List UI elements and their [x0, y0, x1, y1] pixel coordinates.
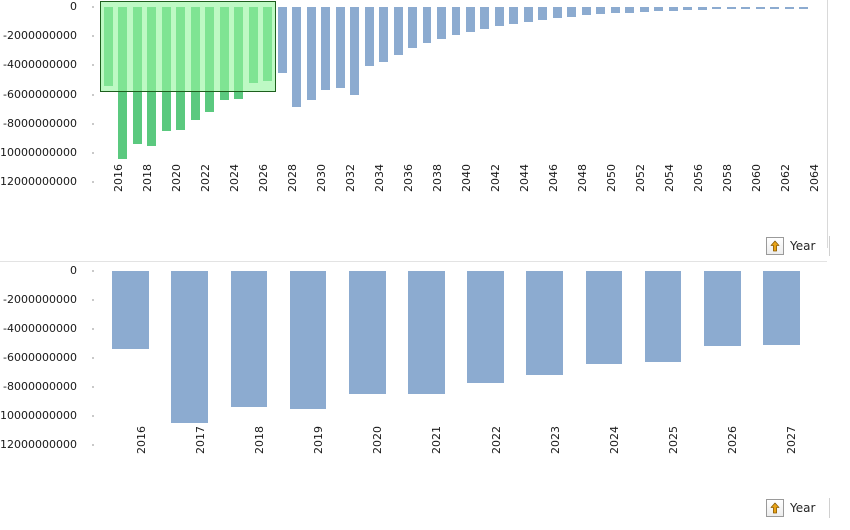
x-tick-label: 2020	[171, 164, 182, 192]
bar-2030[interactable]	[307, 7, 316, 100]
x-tick-label: 2064	[809, 164, 820, 192]
overview-axis-name-control[interactable]: Year	[766, 236, 830, 256]
detail-axis-name-label: Year	[790, 501, 815, 515]
bar-2049[interactable]	[582, 7, 591, 15]
x-tick-label: 2060	[751, 164, 762, 192]
axis-name-separator	[829, 236, 830, 256]
x-tick-label: 2024	[609, 426, 620, 454]
y-tick-label: -12000000000	[0, 439, 77, 450]
x-tick-label: 2025	[668, 426, 679, 454]
bar-2027[interactable]	[763, 271, 800, 345]
y-tick-mark	[92, 328, 94, 330]
x-tick-label: 2044	[519, 164, 530, 192]
y-tick-label: -8000000000	[3, 118, 77, 129]
bar-2040[interactable]	[452, 7, 461, 35]
x-tick-label: 2040	[461, 164, 472, 192]
x-tick-label: 2050	[606, 164, 617, 192]
x-tick-label: 2054	[664, 164, 675, 192]
overview-plot-area[interactable]	[101, 0, 811, 183]
x-tick-label: 2048	[577, 164, 588, 192]
x-tick-label: 2016	[113, 164, 124, 192]
detail-panel: 0-2000000000-4000000000-6000000000-80000…	[0, 262, 850, 530]
y-tick-mark	[92, 386, 94, 388]
x-tick-label: 2021	[431, 426, 442, 454]
bar-2058[interactable]	[712, 7, 721, 9]
bar-2036[interactable]	[394, 7, 403, 55]
bar-2042[interactable]	[480, 7, 489, 29]
x-tick-label: 2052	[635, 164, 646, 192]
bar-2025[interactable]	[645, 271, 682, 362]
y-tick-mark	[92, 181, 94, 183]
bar-2064[interactable]	[799, 7, 808, 9]
up-arrow-icon[interactable]	[766, 237, 784, 255]
range-selection-rectangle[interactable]	[100, 1, 276, 92]
y-tick-label: -4000000000	[3, 59, 77, 70]
y-tick-mark	[92, 444, 94, 446]
x-tick-label: 2026	[258, 164, 269, 192]
bar-2038[interactable]	[423, 7, 432, 43]
bar-2053[interactable]	[640, 7, 649, 12]
detail-axis-name-control[interactable]: Year	[766, 498, 830, 518]
chart-explorer-app: 0-2000000000-4000000000-6000000000-80000…	[0, 0, 850, 530]
bar-2029[interactable]	[292, 7, 301, 107]
overview-panel: 0-2000000000-4000000000-6000000000-80000…	[0, 0, 850, 262]
bar-2039[interactable]	[437, 7, 446, 39]
y-tick-label: -8000000000	[3, 381, 77, 392]
x-tick-label: 2024	[229, 164, 240, 192]
x-tick-label: 2036	[403, 164, 414, 192]
axis-name-separator	[829, 498, 830, 518]
bar-2032[interactable]	[336, 7, 345, 88]
detail-bars[interactable]	[101, 271, 811, 446]
detail-plot-area[interactable]	[101, 264, 811, 446]
y-tick-label: -10000000000	[0, 147, 77, 158]
overview-axis-name-label: Year	[790, 239, 815, 253]
y-tick-mark	[92, 357, 94, 359]
x-tick-label: 2028	[287, 164, 298, 192]
y-tick-label: -6000000000	[3, 352, 77, 363]
bar-2028[interactable]	[278, 7, 287, 73]
bar-2057[interactable]	[698, 7, 707, 10]
bar-2019[interactable]	[290, 271, 327, 409]
bar-2047[interactable]	[553, 7, 562, 18]
bar-2059[interactable]	[727, 7, 736, 9]
bar-2062[interactable]	[770, 7, 779, 9]
bar-2052[interactable]	[625, 7, 634, 13]
x-tick-label: 2062	[780, 164, 791, 192]
bar-2022[interactable]	[467, 271, 504, 383]
x-tick-label: 2020	[372, 426, 383, 454]
bar-2017[interactable]	[171, 271, 208, 423]
bar-2048[interactable]	[567, 7, 576, 17]
bar-2024[interactable]	[586, 271, 623, 364]
y-tick-mark	[92, 299, 94, 301]
x-tick-label: 2022	[200, 164, 211, 192]
bar-2054[interactable]	[654, 7, 663, 11]
x-tick-label: 2018	[142, 164, 153, 192]
y-tick-mark	[92, 6, 94, 8]
bar-2055[interactable]	[669, 7, 678, 11]
bar-2033[interactable]	[350, 7, 359, 95]
bar-2063[interactable]	[785, 7, 794, 9]
y-tick-label: -12000000000	[0, 176, 77, 187]
x-tick-label: 2022	[491, 426, 502, 454]
y-tick-label: -10000000000	[0, 410, 77, 421]
x-tick-label: 2032	[345, 164, 356, 192]
y-tick-mark	[92, 270, 94, 272]
bar-2046[interactable]	[538, 7, 547, 20]
x-tick-label: 2019	[313, 426, 324, 454]
bar-2021[interactable]	[408, 271, 445, 394]
bar-2023[interactable]	[526, 271, 563, 375]
x-tick-label: 2046	[548, 164, 559, 192]
bar-2045[interactable]	[524, 7, 533, 22]
x-tick-label: 2058	[722, 164, 733, 192]
bar-2060[interactable]	[741, 7, 750, 9]
y-tick-mark	[92, 64, 94, 66]
bar-2051[interactable]	[611, 7, 620, 13]
bar-2020[interactable]	[349, 271, 386, 394]
x-tick-label: 2042	[490, 164, 501, 192]
x-tick-label: 2030	[316, 164, 327, 192]
x-tick-label: 2056	[693, 164, 704, 192]
y-tick-mark	[92, 152, 94, 154]
y-tick-mark	[92, 415, 94, 417]
x-tick-label: 2027	[786, 426, 797, 454]
bar-2041[interactable]	[466, 7, 475, 32]
x-tick-label: 2034	[374, 164, 385, 192]
bar-2016[interactable]	[112, 271, 149, 349]
bar-2018[interactable]	[231, 271, 268, 407]
y-tick-label: -2000000000	[3, 30, 77, 41]
x-tick-label: 2017	[195, 426, 206, 454]
bar-2043[interactable]	[495, 7, 504, 26]
bar-2061[interactable]	[756, 7, 765, 9]
bar-2050[interactable]	[596, 7, 605, 14]
y-tick-mark	[92, 123, 94, 125]
overview-right-border	[827, 0, 828, 248]
bar-2034[interactable]	[365, 7, 374, 66]
x-tick-label: 2016	[136, 426, 147, 454]
bar-2026[interactable]	[704, 271, 741, 346]
y-tick-mark	[92, 35, 94, 37]
x-tick-label: 2026	[727, 426, 738, 454]
x-tick-label: 2038	[432, 164, 443, 192]
y-tick-label: 0	[70, 1, 77, 12]
bar-2037[interactable]	[408, 7, 417, 48]
bar-2056[interactable]	[683, 7, 692, 10]
y-tick-label: 0	[70, 265, 77, 276]
y-tick-label: -6000000000	[3, 89, 77, 100]
bar-2044[interactable]	[509, 7, 518, 24]
up-arrow-icon[interactable]	[766, 499, 784, 517]
y-tick-label: -2000000000	[3, 294, 77, 305]
bar-2031[interactable]	[321, 7, 330, 90]
y-tick-label: -4000000000	[3, 323, 77, 334]
x-tick-label: 2018	[254, 426, 265, 454]
x-tick-label: 2023	[550, 426, 561, 454]
bar-2035[interactable]	[379, 7, 388, 62]
y-tick-mark	[92, 94, 94, 96]
